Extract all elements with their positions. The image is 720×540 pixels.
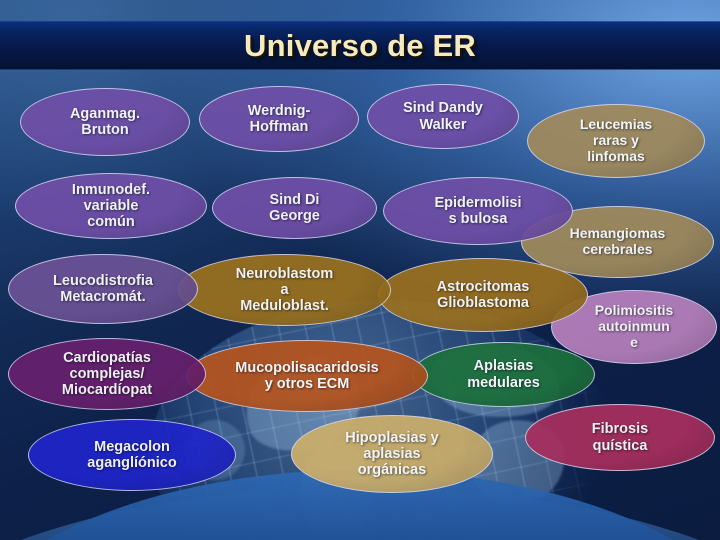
ellipse-label: Aganmag.Bruton [21, 106, 189, 138]
page-title: Universo de ER [0, 22, 720, 69]
diagram-ellipse[interactable]: Leucemiasraras ylinfomas [527, 104, 705, 178]
ellipse-label: Epidermolisis bulosa [384, 195, 572, 227]
ellipse-label: Mucopolisacaridosisy otros ECM [187, 360, 427, 392]
diagram-ellipse[interactable]: Aganmag.Bruton [20, 88, 190, 156]
diagram-ellipse[interactable]: Sind DandyWalker [367, 84, 519, 149]
diagram-ellipse[interactable]: Megacolonaganglíónico [28, 419, 236, 491]
diagram-ellipse[interactable]: Cardiopatíascomplejas/Miocardíopat [8, 338, 206, 410]
bottom-swoosh-highlight [0, 487, 720, 540]
ellipse-label: Sind DandyWalker [368, 100, 518, 132]
diagram-ellipse[interactable]: Aplasiasmedulares [412, 342, 595, 407]
ellipse-label: Hipoplasias yaplasiasorgánicas [292, 430, 492, 479]
ellipse-label: Cardiopatíascomplejas/Miocardíopat [9, 350, 205, 399]
diagram-ellipse[interactable]: AstrocitomasGlioblastoma [378, 258, 588, 332]
diagram-ellipse[interactable]: NeuroblastomaMeduloblast. [178, 254, 391, 326]
ellipse-label: Werdnig-Hoffman [200, 103, 358, 135]
ellipse-label: AstrocitomasGlioblastoma [379, 279, 587, 311]
slide-canvas: Universo de ER Aganmag.BrutonWerdnig-Hof… [0, 0, 720, 540]
ellipse-label: Leucemiasraras ylinfomas [528, 117, 704, 164]
ellipse-label: Aplasiasmedulares [413, 358, 594, 390]
ellipse-label: NeuroblastomaMeduloblast. [179, 266, 390, 315]
diagram-ellipse[interactable]: LeucodistrofiaMetacromát. [8, 254, 198, 324]
diagram-ellipse[interactable]: Sind DiGeorge [212, 177, 377, 239]
diagram-ellipse[interactable]: Werdnig-Hoffman [199, 86, 359, 152]
ellipse-label: Fibrosisquística [526, 421, 714, 453]
diagram-ellipse[interactable]: Inmunodef.variablecomún [15, 173, 207, 239]
diagram-ellipse[interactable]: Epidermolisis bulosa [383, 177, 573, 245]
diagram-ellipse[interactable]: Mucopolisacaridosisy otros ECM [186, 340, 428, 412]
diagram-ellipse[interactable]: Hipoplasias yaplasiasorgánicas [291, 415, 493, 493]
diagram-ellipse[interactable]: Fibrosisquística [525, 404, 715, 471]
ellipse-label: LeucodistrofiaMetacromát. [9, 273, 197, 305]
ellipse-label: Inmunodef.variablecomún [16, 182, 206, 231]
ellipse-label: Megacolonaganglíónico [29, 439, 235, 471]
ellipse-label: Sind DiGeorge [213, 192, 376, 224]
